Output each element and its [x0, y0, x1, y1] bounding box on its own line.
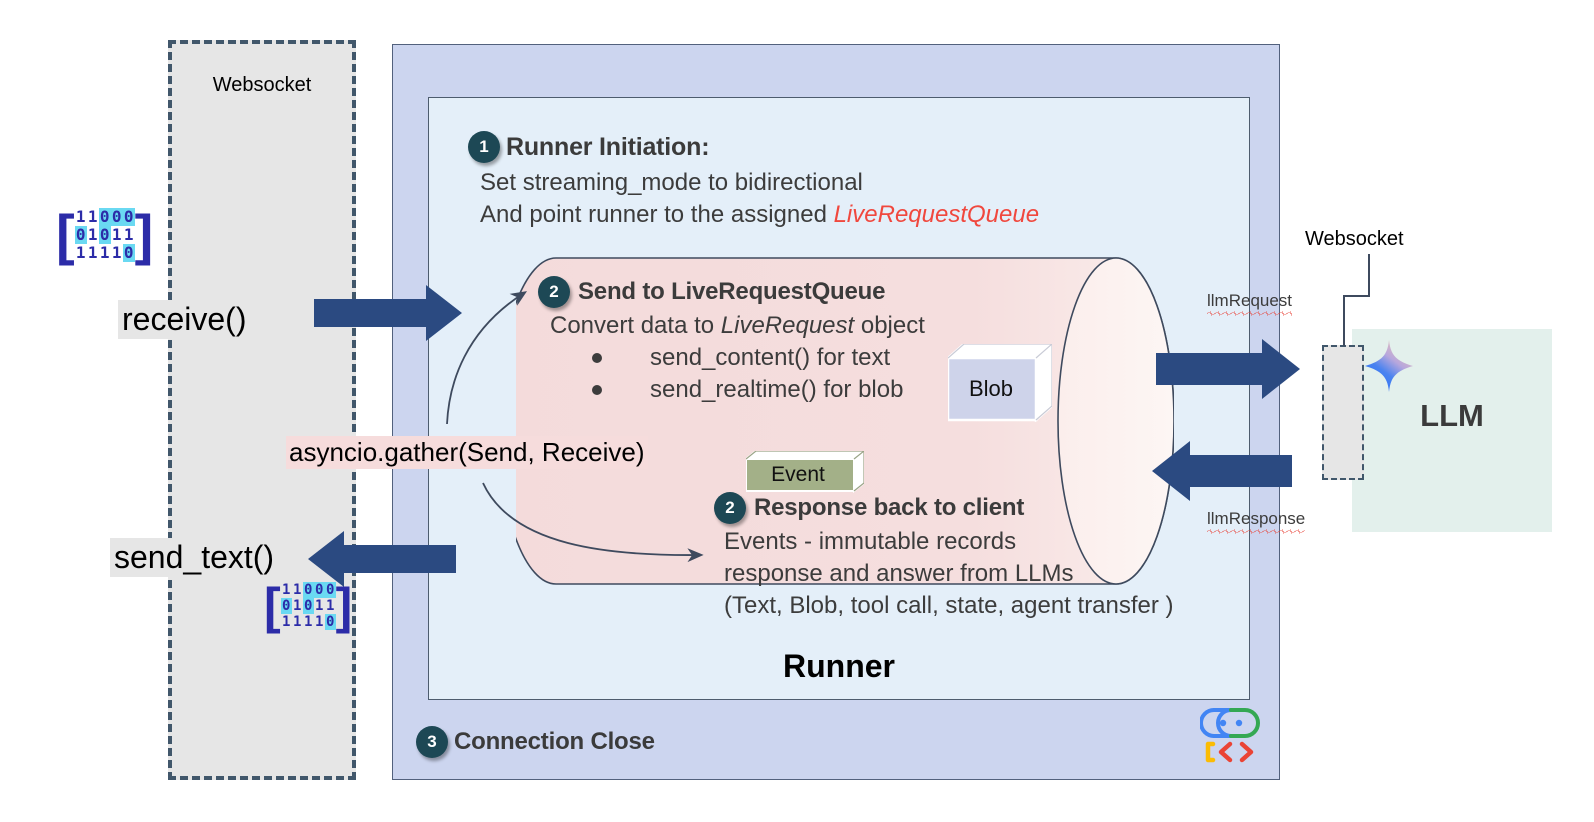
step-1-line-2-emphasis: LiveRequestQueue	[834, 201, 1039, 228]
step-2-response-header: 2 Response back to client	[714, 492, 1254, 524]
llm-label: LLM	[1352, 398, 1552, 434]
binary-row: 11110	[281, 614, 336, 630]
step-2-send-line-1-emphasis: LiveRequest	[721, 312, 854, 339]
blob-box-label: Blob	[948, 358, 1034, 420]
step-2-send-title: Send to LiveRequestQueue	[578, 278, 885, 306]
event-box-label: Event	[746, 459, 850, 491]
runner-title: Runner	[428, 648, 1250, 685]
binary-data-icon: [ 11000 01011 11110 ]	[264, 581, 352, 631]
binary-data-icon: [ 11000 01011 11110 ]	[56, 207, 153, 263]
step-3-connection-close: 3 Connection Close	[416, 726, 655, 758]
client-websocket-label: Websocket	[168, 74, 356, 97]
llm-websocket-label: Websocket	[1305, 228, 1404, 251]
step-badge-1: 1	[468, 131, 500, 163]
step-badge-2-response: 2	[714, 492, 746, 524]
bracket-right-icon: ]	[135, 207, 154, 263]
step-1-line-1: Set streaming_mode to bidirectional	[480, 167, 1168, 199]
bracket-left-icon: [	[56, 207, 75, 263]
step-2-response-back-to-client: 2 Response back to client Events - immut…	[714, 492, 1254, 622]
llm-request-label: llmRequest	[1207, 291, 1292, 316]
send-text-method-label: send_text()	[110, 538, 278, 577]
bracket-right-icon: ]	[336, 581, 353, 631]
gemini-sparkle-icon	[1363, 338, 1415, 394]
bullet-dot-icon	[592, 385, 602, 395]
spellcheck-squiggle-icon	[1207, 529, 1305, 534]
bracket-left-icon: [	[264, 581, 281, 631]
step-2-send-header: 2 Send to LiveRequestQueue	[538, 276, 1058, 308]
step-1-line-2: And point runner to the assigned LiveReq…	[480, 199, 1168, 231]
client-websocket-container	[168, 40, 356, 780]
step-2-send-bullet-label: send_content() for text	[650, 342, 890, 374]
step-2-send-line-1-suffix: object	[854, 312, 925, 339]
binary-row: 11000	[75, 208, 135, 226]
step-badge-3: 3	[416, 726, 448, 758]
binary-row: 11110	[75, 244, 135, 262]
blob-object-box: Blob	[948, 344, 1052, 422]
event-object-box: Event	[746, 451, 864, 493]
binary-row: 11000	[281, 582, 336, 598]
step-2-send-line-1: Convert data to LiveRequest object	[550, 310, 1058, 342]
step-2-response-line-1: Events - immutable records	[724, 526, 1254, 558]
step-2-response-body: Events - immutable records response and …	[724, 526, 1254, 622]
step-2-response-line-3: (Text, Blob, tool call, state, agent tra…	[724, 590, 1254, 622]
diagram-canvas: Websocket [ 11000 01011 11110 ] [ 11000 …	[0, 0, 1594, 822]
step-2-send-line-1-prefix: Convert data to	[550, 312, 721, 339]
binary-row: 01011	[281, 598, 336, 614]
step-badge-2-send: 2	[538, 276, 570, 308]
step-1-body: Set streaming_mode to bidirectional And …	[480, 167, 1168, 231]
binary-rows: 11000 01011 11110	[75, 208, 135, 262]
step-2-response-title: Response back to client	[754, 494, 1024, 522]
spellcheck-squiggle-icon	[1207, 311, 1292, 316]
asyncio-gather-label: asyncio.gather(Send, Receive)	[286, 436, 648, 469]
llm-request-text: llmRequest	[1207, 291, 1292, 310]
step-1-line-2-prefix: And point runner to the assigned	[480, 201, 834, 228]
step-1-title: Runner Initiation:	[506, 133, 709, 162]
llm-websocket-port	[1322, 345, 1364, 480]
step-2-send-bullet-label: send_realtime() for blob	[650, 374, 903, 406]
adk-logo	[1200, 706, 1262, 764]
step-1-runner-initiation: 1 Runner Initiation: Set streaming_mode …	[468, 131, 1168, 231]
receive-method-label: receive()	[118, 300, 250, 339]
step-3-title: Connection Close	[454, 728, 655, 756]
llm-response-label: llmResponse	[1207, 509, 1305, 534]
binary-rows: 11000 01011 11110	[281, 582, 336, 630]
step-1-header: 1 Runner Initiation:	[468, 131, 1168, 163]
bullet-dot-icon	[592, 353, 602, 363]
llm-response-text: llmResponse	[1207, 509, 1305, 528]
step-2-response-line-2: response and answer from LLMs	[724, 558, 1254, 590]
binary-row: 01011	[75, 226, 135, 244]
